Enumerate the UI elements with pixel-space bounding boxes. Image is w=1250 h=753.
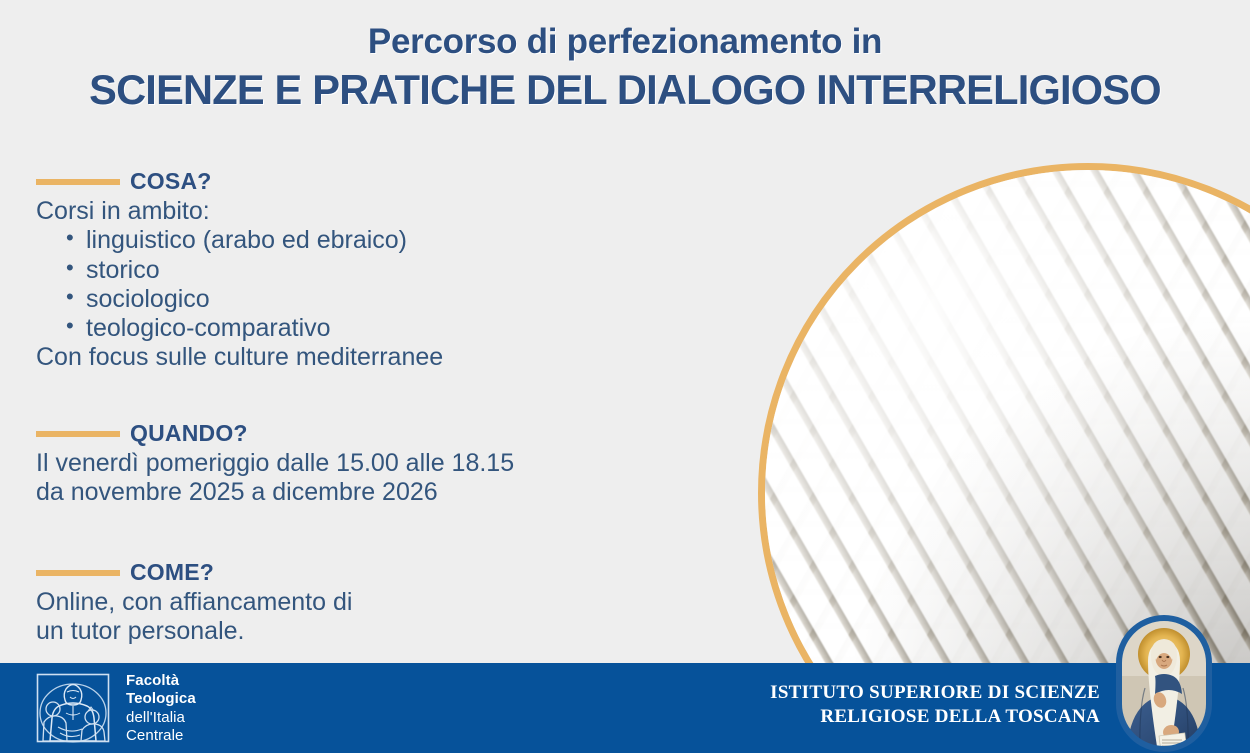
footer-logo-line-4: Centrale (126, 727, 196, 745)
section-quando-heading: QUANDO? (36, 420, 514, 447)
list-item: teologico-comparativo (86, 314, 443, 343)
gold-dash-icon (36, 570, 120, 576)
holy-family-line-art-icon (36, 673, 110, 743)
section-quando-line-2: da novembre 2025 a dicembre 2026 (36, 478, 514, 507)
section-come-title: COME? (130, 559, 214, 586)
section-come-line-1: Online, con affiancamento di (36, 588, 352, 617)
gold-dash-icon (36, 431, 120, 437)
list-item: sociologico (86, 285, 443, 314)
section-cosa-heading: COSA? (36, 168, 443, 195)
section-come-heading: COME? (36, 559, 352, 586)
footer-logo-text: Facoltà Teologica dell'Italia Centrale (126, 672, 196, 745)
issr-line-1: ISTITUTO SUPERIORE DI SCIENZE (770, 681, 1100, 705)
section-quando-title: QUANDO? (130, 420, 248, 447)
footer-logo-line-3: dell'Italia (126, 709, 196, 727)
title-line-1: Percorso di perfezionamento in (0, 22, 1250, 62)
section-cosa-bullets: linguistico (arabo ed ebraico) storico s… (36, 226, 443, 343)
list-item: storico (86, 256, 443, 285)
page-title: Percorso di perfezionamento in SCIENZE E… (0, 22, 1250, 115)
section-cosa-title: COSA? (130, 168, 212, 195)
list-item: linguistico (arabo ed ebraico) (86, 226, 443, 255)
saint-icon-medallion (1115, 614, 1213, 753)
section-quando-line-1: Il venerdì pomeriggio dalle 15.00 alle 1… (36, 449, 514, 478)
section-quando: QUANDO? Il venerdì pomeriggio dalle 15.0… (36, 420, 514, 508)
poster-canvas: Percorso di perfezionamento in SCIENZE E… (0, 0, 1250, 753)
issr-name: ISTITUTO SUPERIORE DI SCIENZE RELIGIOSE … (770, 681, 1100, 730)
section-come-line-2: un tutor personale. (36, 617, 352, 646)
section-cosa-outro: Con focus sulle culture mediterranee (36, 343, 443, 372)
footer-logo-line-1: Facoltà (126, 672, 196, 690)
issr-line-2: RELIGIOSE DELLA TOSCANA (770, 705, 1100, 729)
title-line-2: SCIENZE E PRATICHE DEL DIALOGO INTERRELI… (6, 66, 1244, 114)
gold-dash-icon (36, 179, 120, 185)
section-cosa: COSA? Corsi in ambito: linguistico (arab… (36, 168, 443, 373)
section-cosa-intro: Corsi in ambito: (36, 197, 443, 226)
footer-logo-line-2: Teologica (126, 690, 196, 708)
section-come: COME? Online, con affiancamento di un tu… (36, 559, 352, 647)
